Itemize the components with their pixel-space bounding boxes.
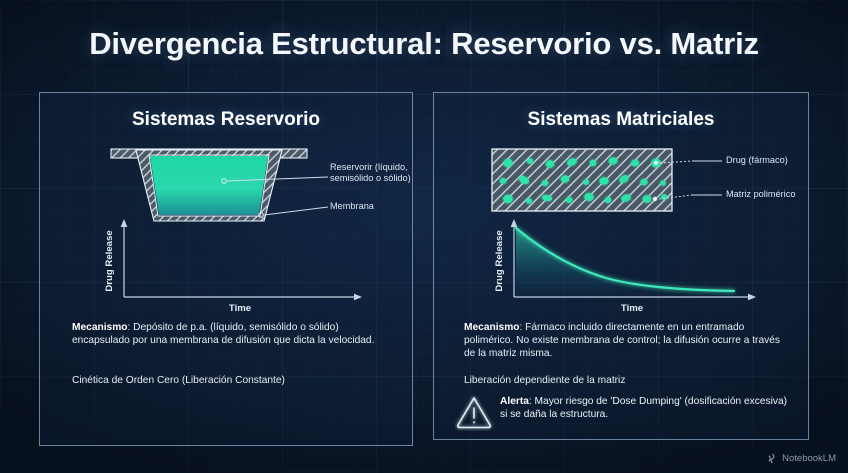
chart-first-order-release: Drug Release Time [434, 217, 810, 317]
panel-reservoir-systems: Sistemas Reservorio [39, 92, 413, 446]
notebooklm-watermark: NotebookLM [767, 453, 836, 464]
alert-label: Alerta [500, 396, 529, 407]
mechanism-text-matrix: Mecanismo: Fármaco incluido directamente… [464, 321, 790, 361]
chart-xlabel: Time [229, 303, 251, 314]
chart-axes [121, 219, 362, 300]
callout-label-reservoir: Reservorir (líquido, semisólido o sólido… [330, 162, 411, 185]
mechanism-label-reservoir: Mecanismo [72, 322, 127, 333]
alert-dose-dumping: Alerta: Mayor riesgo de 'Dose Dumping' (… [455, 393, 791, 433]
chart-ylabel: Drug Release [104, 230, 115, 291]
chart-xlabel: Time [621, 303, 643, 314]
page-title: Divergencia Estructural: Reservorio vs. … [0, 26, 848, 62]
panel-matrix-systems: Sistemas Matriciales [433, 92, 809, 440]
chart-series-decay-area [516, 228, 734, 297]
alert-text: Alerta: Mayor riesgo de 'Dose Dumping' (… [500, 395, 792, 422]
warning-triangle-icon [455, 393, 495, 431]
mechanism-text-reservoir: Mecanismo: Depósito de p.a. (líquido, se… [72, 321, 390, 347]
callout-label-matriz: Matriz polimérico [726, 189, 795, 200]
callout-label-membrana: Membrana [330, 201, 374, 212]
callout-line-membrane [259, 207, 328, 217]
vessel-liquid-fill [150, 156, 268, 215]
alert-body: : Mayor riesgo de 'Dose Dumping' (dosifi… [500, 396, 787, 420]
chart-zero-order-release: Drug Release Time [40, 217, 414, 317]
callout-label-drug: Drug (fármaco) [726, 155, 788, 166]
note-matrix-dependent-release: Liberación dependiente de la matriz [464, 374, 790, 387]
notebooklm-logo-icon [767, 453, 778, 464]
chart-ylabel: Drug Release [494, 230, 505, 291]
note-zero-order-kinetics: Cinética de Orden Cero (Liberación Const… [72, 374, 392, 387]
watermark-label: NotebookLM [782, 453, 836, 464]
mechanism-label-matrix: Mecanismo [464, 322, 519, 333]
